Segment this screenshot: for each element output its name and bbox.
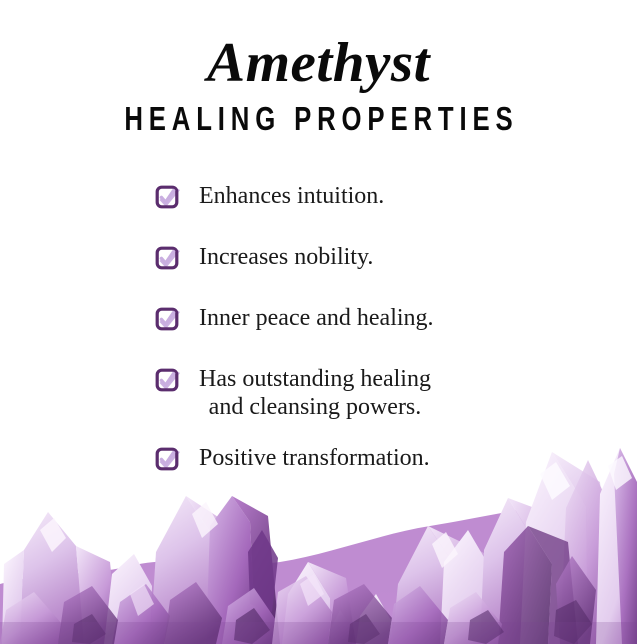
checked-checkbox-icon <box>155 246 183 272</box>
poster-header: Amethyst HEALING PROPERTIES <box>0 34 637 135</box>
amethyst-healing-properties-poster: Amethyst HEALING PROPERTIES Enhances int… <box>0 0 637 644</box>
list-item-label: Inner peace and healing. <box>199 304 434 332</box>
checked-checkbox-icon <box>155 185 183 211</box>
page-subtitle: HEALING PROPERTIES <box>70 102 567 135</box>
checked-checkbox-icon <box>155 368 183 394</box>
list-item-label: Increases nobility. <box>199 243 373 271</box>
list-item: Has outstanding healing and cleansing po… <box>155 365 575 422</box>
list-item: Inner peace and healing. <box>155 304 575 333</box>
page-title: Amethyst <box>0 34 637 93</box>
list-item: Enhances intuition. <box>155 182 575 211</box>
list-item-label: Enhances intuition. <box>199 182 384 210</box>
checked-checkbox-icon <box>155 307 183 333</box>
amethyst-crystal-cluster-photo <box>0 434 637 644</box>
list-item: Increases nobility. <box>155 243 575 272</box>
list-item-label: Has outstanding healing and cleansing po… <box>199 365 431 422</box>
